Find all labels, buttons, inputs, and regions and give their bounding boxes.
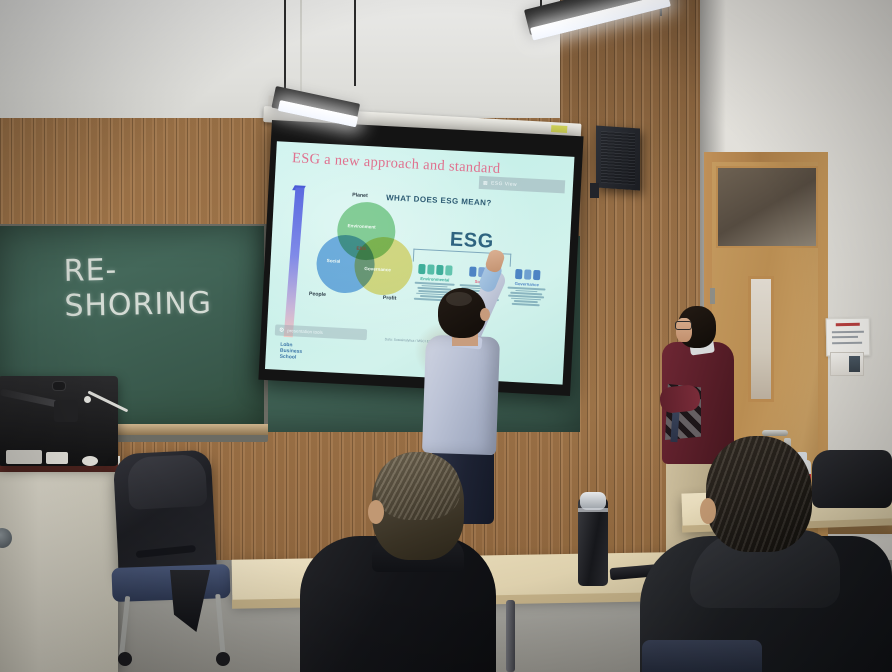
venn-label-people: People [309, 291, 326, 298]
chair-wheel [118, 652, 132, 666]
slide-bottom-label: presentation tools [287, 328, 323, 335]
wall-speaker [596, 125, 640, 190]
thermos-ring [578, 508, 608, 512]
leaf-icon [427, 264, 435, 274]
toolbar-dot-icon[interactable] [473, 141, 477, 143]
person-tie-icon [515, 269, 523, 279]
door-hinge [710, 288, 715, 304]
presentation-slide[interactable]: ESG a new approach and standard ▦ ESG Vi… [265, 141, 575, 384]
logo-line-3: School [279, 354, 302, 361]
governance-bullets [501, 286, 552, 306]
toolbar-dot-icon[interactable] [460, 141, 464, 142]
presenter-hair-highlight [446, 292, 472, 306]
presenter-ear [480, 308, 490, 321]
slide-logo: Lobn Business School [279, 342, 302, 361]
podium-item[interactable] [46, 452, 68, 464]
door-handle[interactable] [762, 430, 788, 436]
student-front-ear [368, 500, 384, 524]
switch-key-slot[interactable] [849, 356, 860, 372]
environmental-icons [410, 260, 461, 276]
backpack-strap [136, 545, 196, 558]
projection-screen[interactable]: ESG a new approach and standard ▦ ESG Vi… [258, 120, 583, 396]
student-right-ear [700, 498, 716, 524]
podium-item[interactable] [82, 456, 98, 466]
notice-line [832, 342, 862, 344]
governance-icons [502, 265, 553, 281]
housing-sticker [551, 125, 567, 133]
door-glass-panel [748, 276, 774, 402]
podium-item[interactable] [6, 450, 42, 464]
gear-icon[interactable]: ⚙ [279, 327, 285, 334]
esg-pillar-governance: Governance [501, 265, 553, 307]
chair-wheel [216, 652, 230, 666]
classroom-scene: RE-SHORING ESG a new approach and standa… [0, 0, 892, 672]
bank-icon [532, 270, 540, 280]
monitor-mount-hub [54, 400, 78, 422]
globe-icon [418, 264, 426, 274]
pendant-cord [284, 0, 286, 96]
slide-floating-toolbar[interactable] [415, 141, 497, 148]
pendant-cord [354, 0, 356, 86]
glasses-icon [675, 321, 692, 330]
microphone-head [84, 396, 91, 403]
venn-label-planet: Planet [352, 192, 368, 199]
chalkboard-text: RE-SHORING [63, 250, 244, 324]
webcam-icon [52, 381, 66, 391]
speaker-bracket [590, 183, 599, 198]
handshake-icon [469, 267, 477, 277]
venn-center-esg: ESG [356, 246, 366, 252]
venn-label-profit: Profit [383, 295, 397, 302]
venn-inner-social: Social [327, 258, 341, 264]
wall-notice-sign [826, 318, 871, 357]
handshake-icon [524, 269, 532, 279]
toolbar-dot-icon[interactable] [448, 141, 452, 142]
notice-title-bar [836, 323, 860, 326]
drop-icon [436, 265, 444, 275]
teacher-podium [0, 472, 118, 672]
backpack-flap [127, 454, 208, 510]
grid-icon: ▦ [483, 180, 488, 186]
student-right-head [706, 436, 812, 552]
notice-line [832, 331, 864, 333]
notice-line [832, 336, 858, 338]
speaker-grille [601, 131, 635, 185]
door-transom-window [716, 166, 818, 248]
student-right-chair [642, 640, 762, 672]
light-switch-panel[interactable] [830, 352, 864, 376]
slide-view-label: ESG View [491, 180, 517, 187]
venn-diagram: Planet People Profit Environment Social … [313, 198, 414, 307]
black-bag-on-desk[interactable] [812, 450, 892, 508]
student-front-hair [376, 452, 460, 520]
music-note-icon[interactable] [486, 141, 490, 144]
tree-icon [445, 265, 453, 275]
presenter-torso [422, 335, 500, 456]
desk-leg [506, 600, 515, 672]
